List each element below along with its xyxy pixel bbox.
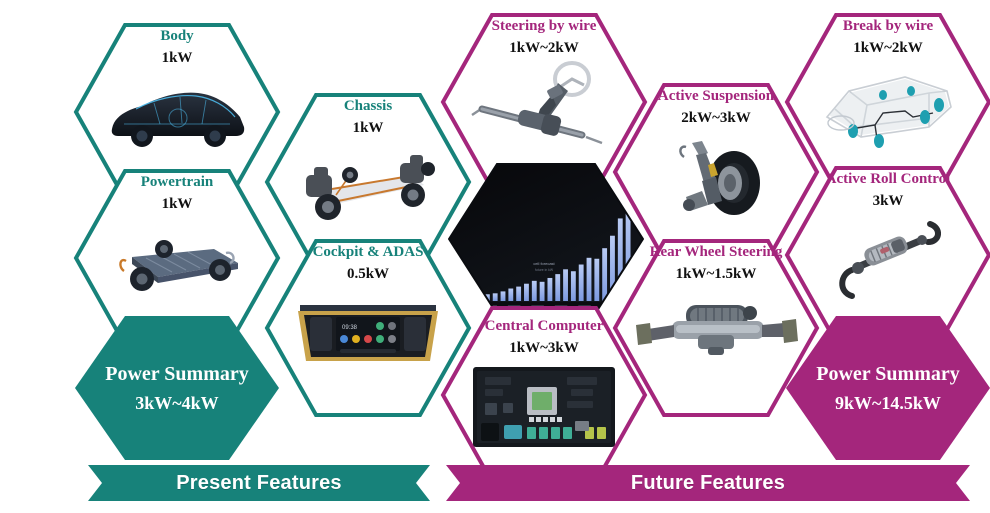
hex-cell-present-power-summary[interactable]: Power Summary 3kW~4kW [73, 314, 281, 462]
chart-bar [587, 258, 592, 301]
hexagon-filled [73, 314, 281, 462]
ribbon-label: Present Features [176, 472, 342, 495]
chart-bar [493, 293, 498, 301]
ribbon-label: Future Features [631, 472, 785, 495]
ribbon-future-features[interactable]: Future Features [446, 465, 970, 501]
chart-bar [563, 269, 568, 301]
chart-bar [501, 291, 506, 301]
hexagon-filled [784, 314, 990, 462]
chart-bar [477, 296, 482, 301]
chart-bar [540, 282, 545, 301]
chart-bar [594, 259, 599, 301]
infographic-root: Body 1kW [0, 0, 990, 513]
chart-bar [555, 274, 560, 301]
chart-bar [579, 265, 584, 301]
chart-bar [547, 278, 552, 301]
chart-bar [602, 248, 607, 301]
chart-bar [532, 281, 537, 301]
chart-bar [508, 289, 513, 301]
chart-bar [524, 284, 529, 301]
ribbon-present-features[interactable]: Present Features [88, 465, 430, 501]
chart-bar [469, 297, 474, 301]
chart-bar [571, 271, 576, 301]
chart-bar [516, 287, 521, 301]
hex-cell-future-power-summary[interactable]: Power Summary 9kW~14.5kW [784, 314, 990, 462]
svg-text:future in kW: future in kW [535, 268, 554, 272]
svg-text:cell forecast: cell forecast [533, 261, 555, 266]
chart-bar [461, 298, 466, 301]
